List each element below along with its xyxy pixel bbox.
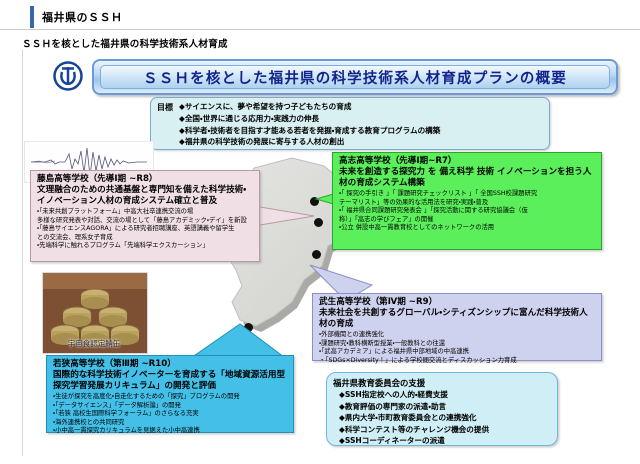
- callout-takashi-high-school: 高志高等学校（先導Ⅰ期~R7） 未来を創造する探究力 を 備え科学 技術 イノベ…: [332, 152, 602, 250]
- goal-item: ◆全国・世界に通じる応用力・実践力の伸長: [179, 113, 440, 125]
- goal-item: ◆科学者・技術者を目指す才能ある若者を発掘・育成する教育プログラムの構築: [179, 125, 440, 137]
- bullet-item: 多様な研究発表や対話、交流の場として「藤島アカデミック・デイ」を新設: [37, 217, 254, 226]
- school-bullets: ・外部機関との連携強化 ・課題研究・教科横断型授業・一般教科との往還 ・「武高ア…: [319, 331, 596, 365]
- bullet-item: ・公立 併設中高一貫教育校としてのネットワークの活用: [339, 224, 596, 233]
- goal-item: ◆福井県の科学技術の発展に寄与する人材の創出: [179, 136, 440, 148]
- slide-page: 福井県のＳＳＨ ＳＳＨを核とした福井県の科学技術系人材育成 ＳＳＨを核とした福井…: [0, 0, 640, 464]
- school-bullets: ・「未来共創プラットフォーム」中高大社卒連携交流の場 多様な研究発表や対話、交流…: [37, 208, 254, 251]
- slide-title-inner: ＳＳＨを核とした福井県の科学技術系人材育成プランの概要: [100, 65, 610, 89]
- bullet-item: ・生徒が探究を高度化・自走化するための「探究」プログラムの開発: [53, 393, 288, 402]
- goals-label: 目標: [157, 101, 173, 146]
- school-bullets: ・生徒が探究を高度化・自走化するための「探究」プログラムの開発 ・「データサイエ…: [53, 393, 288, 436]
- bullet-item: テーマリスト」等の効果的な活用法を研究・実践・普及: [339, 199, 596, 208]
- goals-box: 目標 ◆サイエンスに、夢や希望を持つ子どもたちの育成 ◆全国・世界に通じる応用力…: [150, 97, 550, 150]
- callout-takefu-high-school: 武生高等学校（第Ⅳ期 ~R9） 未来社会を共創するグローバル・シティズンシップに…: [312, 293, 602, 361]
- school-subtitle: 未来社会を共創するグローバル・シティズンシップに富んだ科学技術人材の育成: [319, 308, 596, 330]
- fukui-prefecture-crest-icon: [52, 60, 84, 92]
- space-food-caption: 宇宙食認定鯖缶: [44, 338, 144, 349]
- goals-list: ◆サイエンスに、夢や希望を持つ子どもたちの育成 ◆全国・世界に通じる応用力・実践…: [179, 101, 440, 146]
- school-bullets: ・「 探究の手引き 」「 課題研究チェックリスト 」「 全国SSH校課題研究 テ…: [339, 190, 596, 233]
- school-title: 藤島高等学校（先導Ⅰ期 ~R8）: [37, 174, 254, 185]
- bullet-item: ・「若狭 高校生国際科学フォーラム」のさらなる充実: [53, 410, 288, 419]
- support-title: 福井県教育委員会の支援: [333, 377, 551, 389]
- goal-item: ◆サイエンスに、夢や希望を持つ子どもたちの育成: [179, 101, 440, 113]
- bullet-item: ・「武高アカデミア」による福井県中部地域の中高連携: [319, 348, 596, 357]
- school-title: 武生高等学校（第Ⅳ期 ~R9）: [319, 297, 596, 308]
- page-header: 福井県のＳＳＨ: [30, 6, 630, 28]
- bullet-item: ・課題研究・教科横断型授業・一般教科との往還: [319, 340, 596, 349]
- bullet-item: ・「SDGs×Diversity！」による学校間交流とディスカッション力育成: [319, 357, 596, 366]
- bullet-item: ・「未来共創プラットフォーム」中高大社卒連携交流の場: [37, 208, 254, 217]
- support-item: ◆SSHコーディネーターの派遣: [339, 435, 551, 447]
- page-subtitle: ＳＳＨを核とした福井県の科学技術系人材育成: [22, 36, 228, 50]
- support-list: ◆SSH指定校への人的・経費支援 ◆教育評価の専門家の派遣・助言 ◆県内大学・市…: [339, 389, 551, 447]
- page-header-title: 福井県のＳＳＨ: [42, 9, 123, 25]
- school-subtitle: 未来を創造する探究力 を 備え科学 技術 イノベーションを担う人材の育成システム…: [339, 167, 596, 189]
- bullet-item: ・「藤島サイエンスAGORA」による研究者招聘講座、英語講義や留学生: [37, 225, 254, 234]
- support-item: ◆県内大学・市町教育委員会との連携強化: [339, 412, 551, 424]
- slide-title-text: ＳＳＨを核とした福井県の科学技術系人材育成プランの概要: [143, 67, 567, 88]
- callout-wakasa-high-school: 若狭高等学校（第Ⅲ期 ~R10） 国際的な科学技術イノベーターを育成する「地域資…: [46, 355, 294, 433]
- school-title: 若狭高等学校（第Ⅲ期 ~R10）: [53, 359, 288, 370]
- callout-fujishima-high-school: 藤島高等学校（先導Ⅰ期 ~R8） 文理融合のための共通基盤と専門知を備えた科学技…: [30, 170, 260, 262]
- school-subtitle: 文理融合のための共通基盤と専門知を備えた科学技術・イノベーション人材の育成システ…: [37, 185, 254, 207]
- bullet-item: ・「 福井県合同課題研究発表会 」「探究活動に関する研究協議会（仮: [339, 207, 596, 216]
- bullet-item: ・外部機関との連携強化: [319, 331, 596, 340]
- bullet-item: ・「 探究の手引き 」「 課題研究チェックリスト 」「 全国SSH校課題研究: [339, 190, 596, 199]
- school-subtitle: 国際的な科学技術イノベーターを育成する「地域資源活用型探究学習発展カリキュラム」…: [53, 370, 288, 392]
- support-box: 福井県教育委員会の支援 ◆SSH指定校への人的・経費支援 ◆教育評価の専門家の派…: [326, 372, 558, 446]
- support-item: ◆科学コンテスト等のチャレンジ機会の提供: [339, 424, 551, 436]
- bullet-item: ・先端科学に触れるプログラム「先端科学エクスカーション」: [37, 242, 254, 251]
- support-item: ◆教育評価の専門家の派遣・助言: [339, 401, 551, 413]
- support-item: ◆SSH指定校への人的・経費支援: [339, 389, 551, 401]
- bullet-item: ・小中高一貫探究カリキュラムを見据えた小中高連携: [53, 427, 288, 436]
- slide-title-banner: ＳＳＨを核とした福井県の科学技術系人材育成プランの概要: [92, 59, 618, 95]
- school-title: 高志高等学校（先導Ⅰ期~R7）: [339, 156, 596, 167]
- header-divider: [0, 29, 640, 30]
- bullet-item: ・「データサイエンス」「データ解析論」の開発: [53, 402, 288, 411]
